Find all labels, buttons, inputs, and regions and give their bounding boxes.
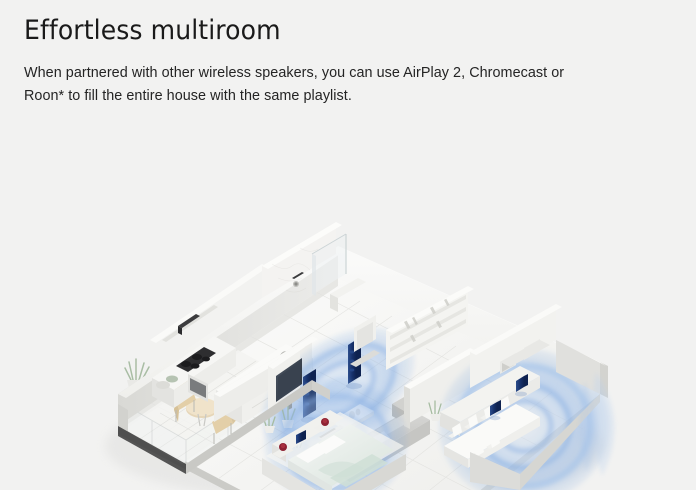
- page-subtitle: When partnered with other wireless speak…: [24, 62, 590, 108]
- multiroom-promo-panel: Effortless multiroom When partnered with…: [0, 0, 696, 490]
- kitchen-plant-small: [166, 376, 178, 383]
- kitchen-bowl: [156, 381, 170, 389]
- floor-plan-illustration: [0, 126, 696, 490]
- page-title: Effortless multiroom: [24, 14, 601, 48]
- copy-block: Effortless multiroom When partnered with…: [24, 14, 644, 108]
